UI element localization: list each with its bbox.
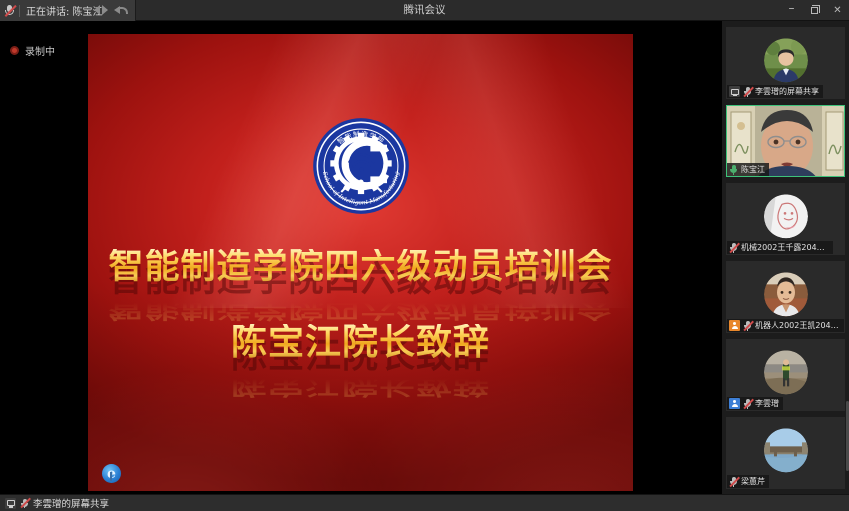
tile-label-bar: 李雲璔的屏幕共享 bbox=[727, 85, 823, 98]
participant-tile[interactable]: 机械2002王千露204130210 bbox=[726, 183, 845, 255]
status-bar: 李雲璔的屏幕共享 bbox=[0, 494, 849, 511]
avatar bbox=[764, 38, 808, 82]
recording-label: 录制中 bbox=[25, 43, 55, 58]
participant-tile[interactable]: 梁蕙芹 bbox=[726, 417, 845, 489]
close-button[interactable]: ✕ bbox=[826, 0, 849, 21]
participant-tile[interactable]: 李雲璔 bbox=[726, 339, 845, 411]
school-logo: 智能制造学院 School of Intelligent Manufacturi… bbox=[309, 114, 413, 218]
participant-tile[interactable]: 机器人2002王凯204150213 bbox=[726, 261, 845, 333]
tile-label-bar: 梁蕙芹 bbox=[727, 475, 769, 488]
restore-glyph bbox=[811, 7, 818, 14]
avatar bbox=[764, 428, 808, 472]
tile-label-bar: 李雲璔 bbox=[727, 397, 783, 410]
title-bar: 腾讯会议 正在讲话: 陈宝江 – ✕ bbox=[0, 0, 849, 21]
tencent-meeting-window: 腾讯会议 正在讲话: 陈宝江 – ✕ bbox=[0, 0, 849, 511]
participant-tile[interactable]: 陈宝江 bbox=[726, 105, 845, 177]
status-share-label: 李雲璔的屏幕共享 bbox=[33, 496, 109, 510]
recording-indicator: 录制中 bbox=[10, 43, 55, 58]
avatar bbox=[764, 194, 808, 238]
participant-panel[interactable]: 李雲璔的屏幕共享 bbox=[722, 21, 849, 494]
minimize-button[interactable]: – bbox=[780, 0, 803, 21]
minimize-glyph: – bbox=[789, 2, 795, 14]
host-badge-icon bbox=[729, 320, 740, 331]
mic-on-icon bbox=[729, 164, 738, 175]
slide-title-sub-container: 陈宝江院长致辞 bbox=[88, 324, 633, 362]
window-controls: – ✕ bbox=[780, 0, 849, 21]
avatar bbox=[764, 272, 808, 316]
mic-muted-icon bbox=[4, 4, 15, 17]
participant-name: 李雲璔 bbox=[755, 398, 779, 409]
tile-label-bar: 机器人2002王凯204150213 bbox=[727, 319, 844, 332]
mic-muted-icon bbox=[743, 398, 752, 409]
screen-share-icon bbox=[5, 498, 16, 509]
participant-name: 机械2002王千露204130210 bbox=[741, 242, 829, 253]
slide-title-main: 智能制造学院四六级动员培训会 bbox=[108, 249, 612, 286]
divider bbox=[19, 5, 20, 17]
mic-muted-icon bbox=[729, 476, 738, 487]
mic-muted-icon bbox=[20, 498, 29, 509]
cohost-badge-icon bbox=[729, 398, 740, 409]
participant-name: 梁蕙芹 bbox=[741, 476, 765, 487]
presentation-slide: 智能制造学院 School of Intelligent Manufacturi… bbox=[88, 34, 633, 491]
participant-name: 机器人2002王凯204150213 bbox=[755, 320, 840, 331]
participant-tile[interactable]: 李雲璔的屏幕共享 bbox=[726, 27, 845, 99]
collapse-arrows-icon[interactable] bbox=[94, 2, 109, 18]
restore-button[interactable] bbox=[803, 0, 826, 21]
mic-muted-icon bbox=[729, 242, 738, 253]
participant-name: 李雲璔的屏幕共享 bbox=[755, 86, 819, 97]
tile-label-bar: 机械2002王千露204130210 bbox=[727, 241, 833, 254]
record-dot-icon bbox=[10, 46, 19, 55]
slide-title-sub: 陈宝江院长致辞 bbox=[231, 324, 490, 362]
titlebar-icon-group bbox=[94, 2, 128, 18]
tile-label-bar: 陈宝江 bbox=[727, 163, 769, 176]
slide-title-main-container: 智能制造学院四六级动员培训会 bbox=[88, 249, 633, 286]
shared-screen-stage[interactable]: 录制中 bbox=[0, 21, 722, 494]
participant-name: 陈宝江 bbox=[741, 164, 765, 175]
back-arrow-icon[interactable] bbox=[113, 2, 128, 18]
close-glyph: ✕ bbox=[833, 6, 841, 16]
avatar bbox=[764, 350, 808, 394]
active-speaker-label: 正在讲话: 陈宝江 bbox=[26, 3, 103, 18]
text-caret bbox=[110, 472, 112, 481]
mic-muted-icon bbox=[743, 86, 752, 97]
mic-muted-icon bbox=[743, 320, 752, 331]
screen-share-icon bbox=[729, 86, 740, 97]
